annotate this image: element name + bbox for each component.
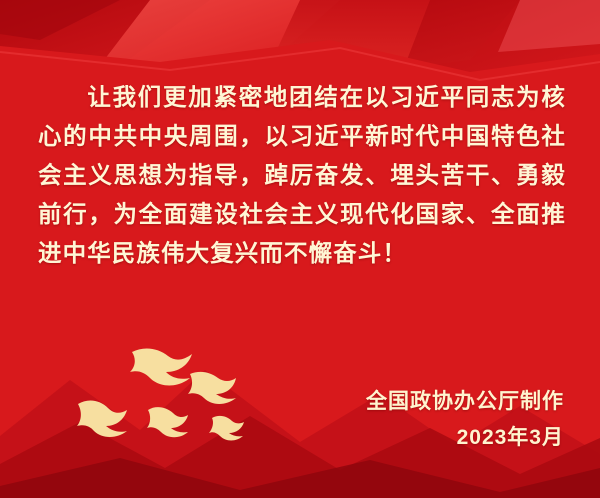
credit-block: 全国政协办公厅制作 2023年3月 [366,384,564,456]
credit-organization: 全国政协办公厅制作 [366,384,564,420]
credit-date: 2023年3月 [366,420,564,456]
poster-canvas: 让我们更加紧密地团结在以习近平同志为核心的中共中央周围，以习近平新时代中国特色社… [0,0,600,498]
poster-body-text: 让我们更加紧密地团结在以习近平同志为核心的中共中央周围，以习近平新时代中国特色社… [38,78,566,273]
flying-doves-icon [40,344,300,454]
